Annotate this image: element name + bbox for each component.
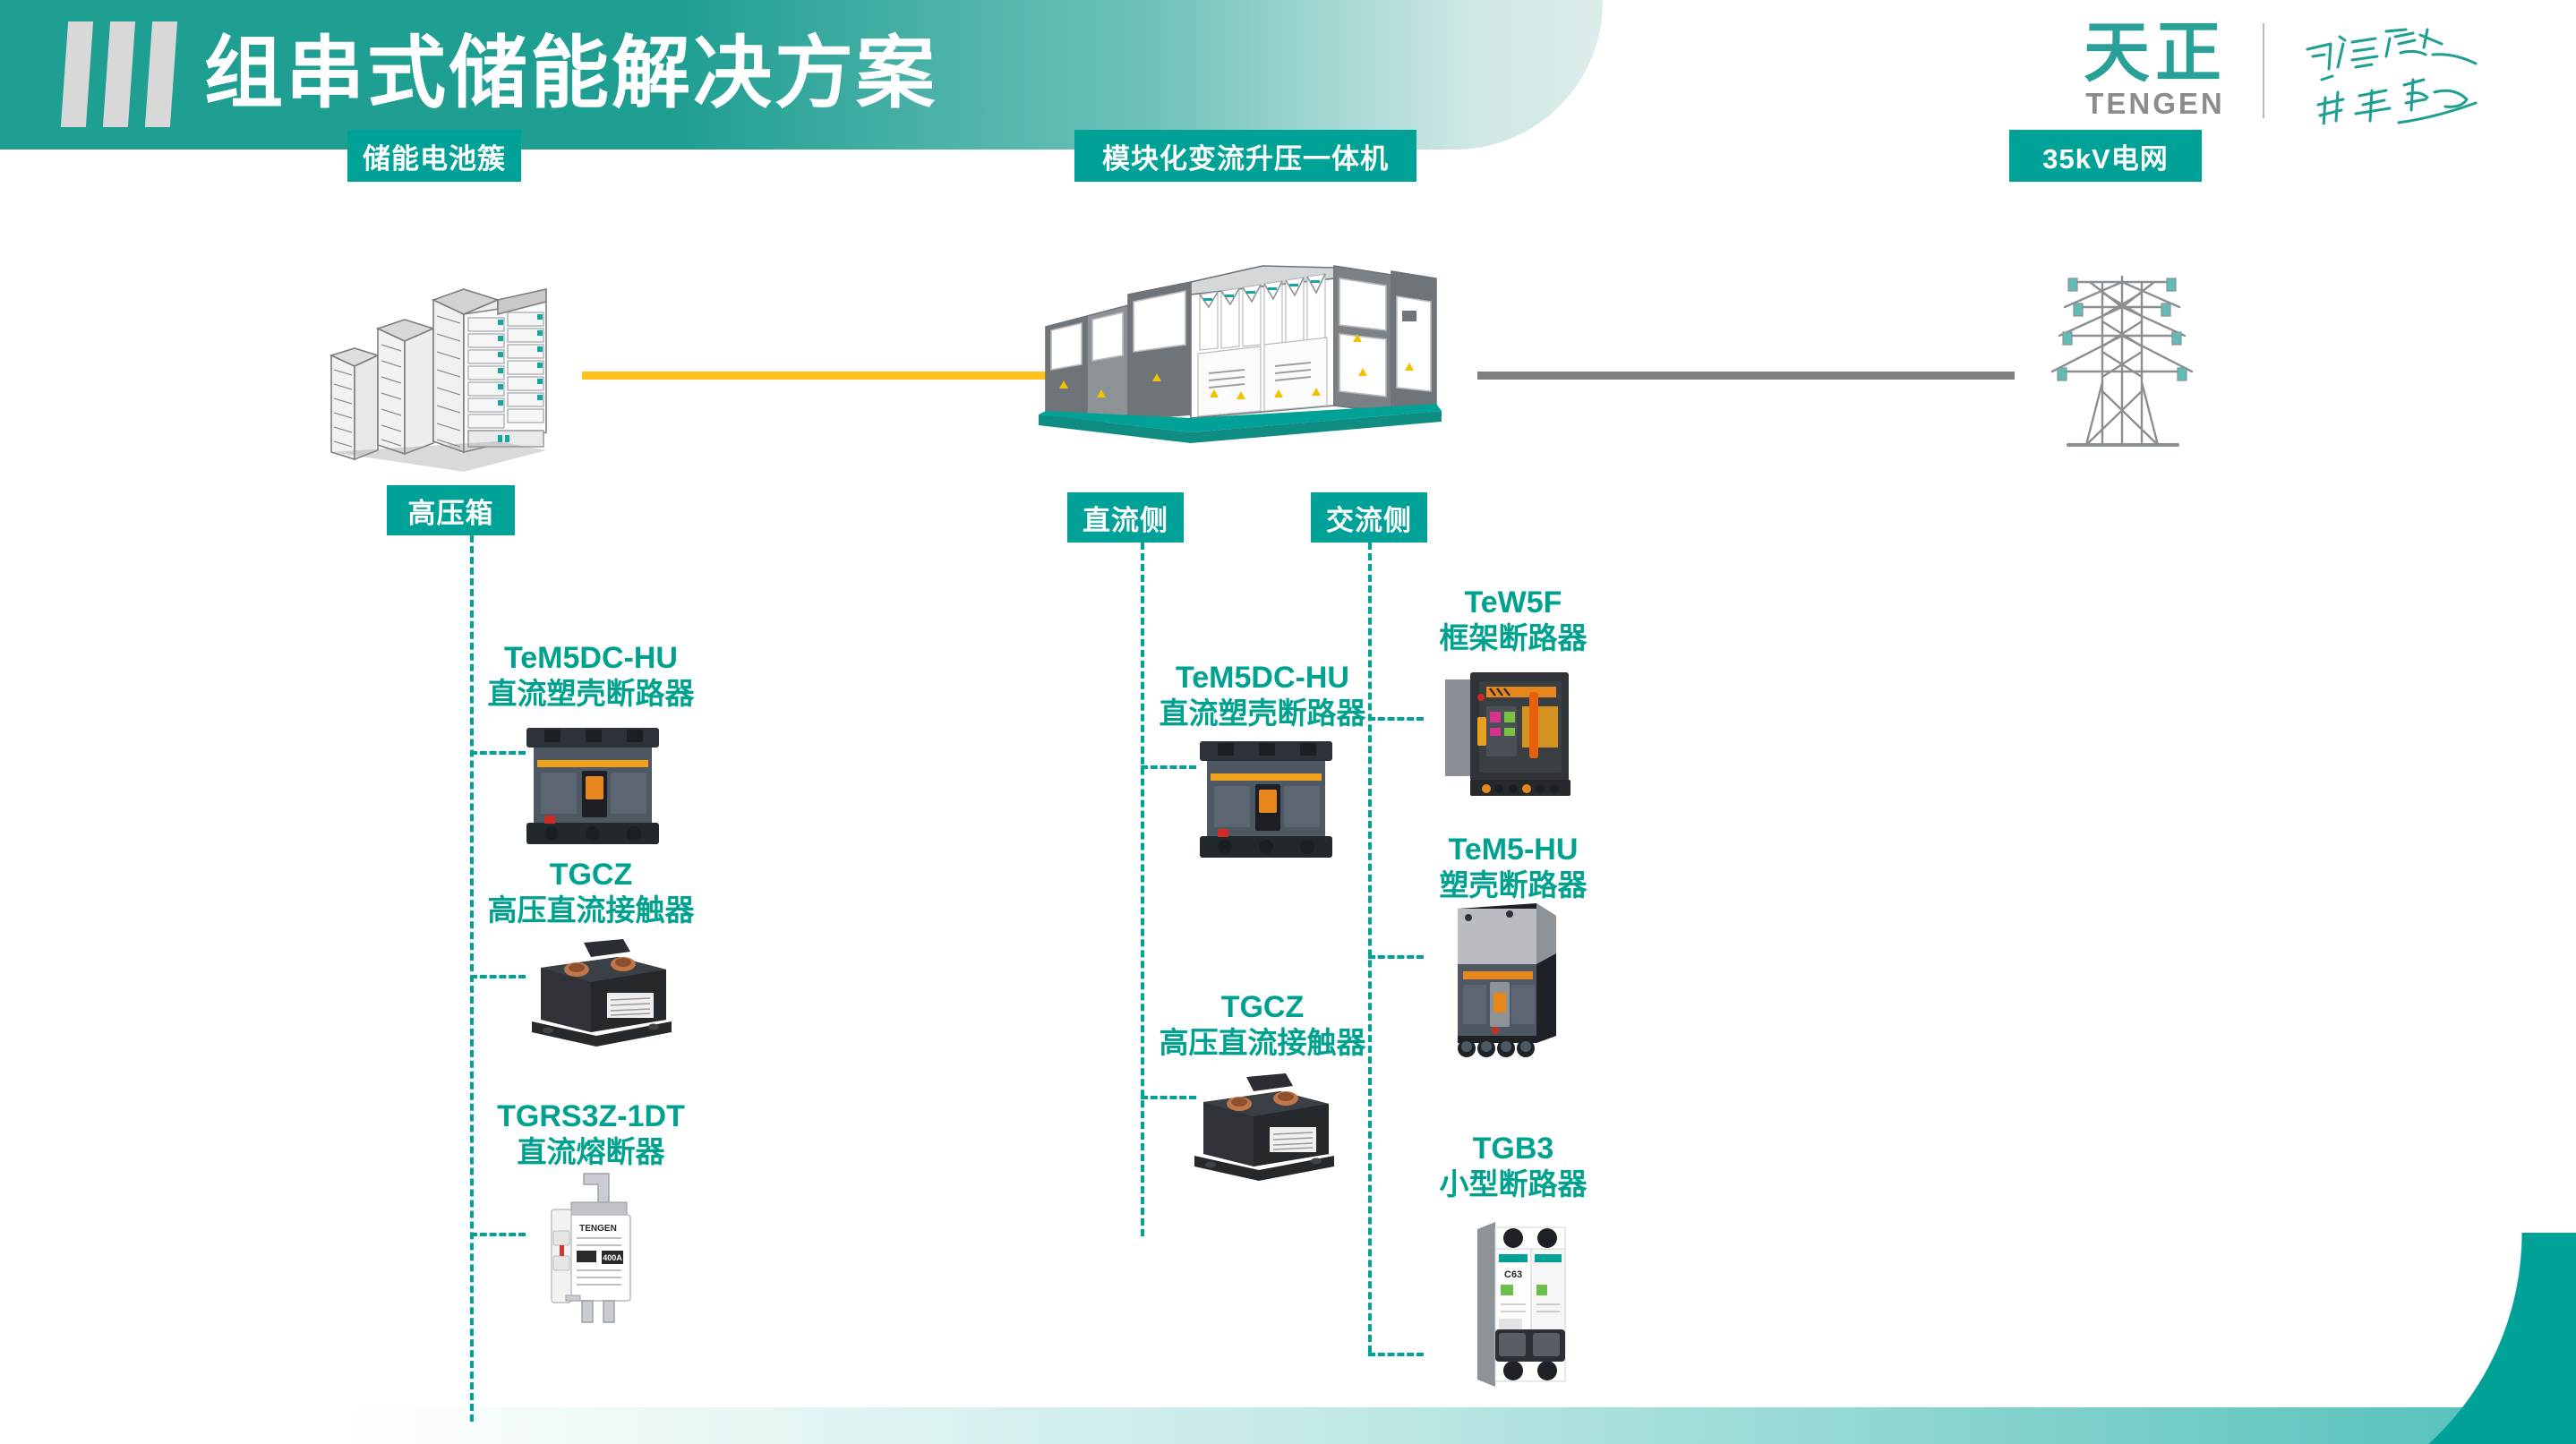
dc-fuse-icon: TENGEN 400A [532,1170,657,1327]
ac-bus-line [1477,372,2015,380]
acb-icon [1436,667,1584,801]
bottom-right-corner-decoration [2236,1233,2576,1444]
connector-line-col2 [1141,543,1144,1236]
brand-logo: 天正 TENGEN [2084,13,2506,129]
logo-mark: 天正 TENGEN [2084,20,2227,122]
svg-text:TENGEN: TENGEN [579,1224,617,1234]
connector-stub-col1-3 [470,1233,526,1236]
component-caption-3-1: TeW5F 框架断路器 [1334,585,1692,656]
battery-rack-icon [322,266,591,472]
dc-bus-line [582,372,1048,380]
logo-brand-en: TENGEN [2085,86,2225,122]
dc-contactor-icon [518,937,679,1054]
converter-container-icon [1039,248,1468,481]
connector-stub-col3-3 [1368,1353,1424,1356]
component-caption-2-1: TeM5DC-HU 直流塑壳断路器 [1083,660,1442,731]
three-bars-icon [64,21,174,127]
slogan-handwriting-icon [2300,17,2506,124]
badge-ac-side[interactable]: 交流侧 [1311,492,1427,543]
svg-text:C63: C63 [1504,1269,1522,1280]
component-caption-1-2: TGCZ 高压直流接触器 [412,857,770,928]
mcb-icon: C63 [1454,1215,1588,1394]
mccb-dc-icon [518,722,675,848]
page-header: 组串式储能解决方案 [0,0,1603,150]
diagram-stage: 储能电池簇 高压箱 模块化变流升压一体机 直流侧 交流侧 35kV电网 TeM5… [0,150,2576,1444]
badge-battery-cluster[interactable]: 储能电池簇 [347,130,521,182]
transmission-tower-icon [2033,266,2212,458]
badge-dc-side[interactable]: 直流侧 [1067,492,1184,543]
badge-high-voltage-box[interactable]: 高压箱 [387,485,515,535]
mccb-icon [1436,900,1570,1061]
component-caption-3-2: TeM5-HU 塑壳断路器 [1334,832,1692,903]
connector-stub-col2-1 [1141,765,1196,769]
svg-text:400A: 400A [603,1253,622,1262]
component-caption-2-2: TGCZ 高压直流接触器 [1083,989,1442,1061]
page-title: 组串式储能解决方案 [204,17,937,130]
badge-converter[interactable]: 模块化变流升压一体机 [1074,130,1416,182]
logo-brand-cn: 天正 [2084,20,2227,86]
logo-divider [2263,23,2264,118]
mccb-dc-icon [1191,736,1348,861]
component-caption-1-3: TGRS3Z-1DT 直流熔断器 [412,1098,770,1170]
badge-grid[interactable]: 35kV电网 [2009,130,2202,182]
component-caption-3-3: TGB3 小型断路器 [1334,1131,1692,1202]
connector-stub-col3-2 [1368,955,1424,959]
component-caption-1-1: TeM5DC-HU 直流塑壳断路器 [412,640,770,712]
dc-contactor-icon [1180,1072,1341,1188]
